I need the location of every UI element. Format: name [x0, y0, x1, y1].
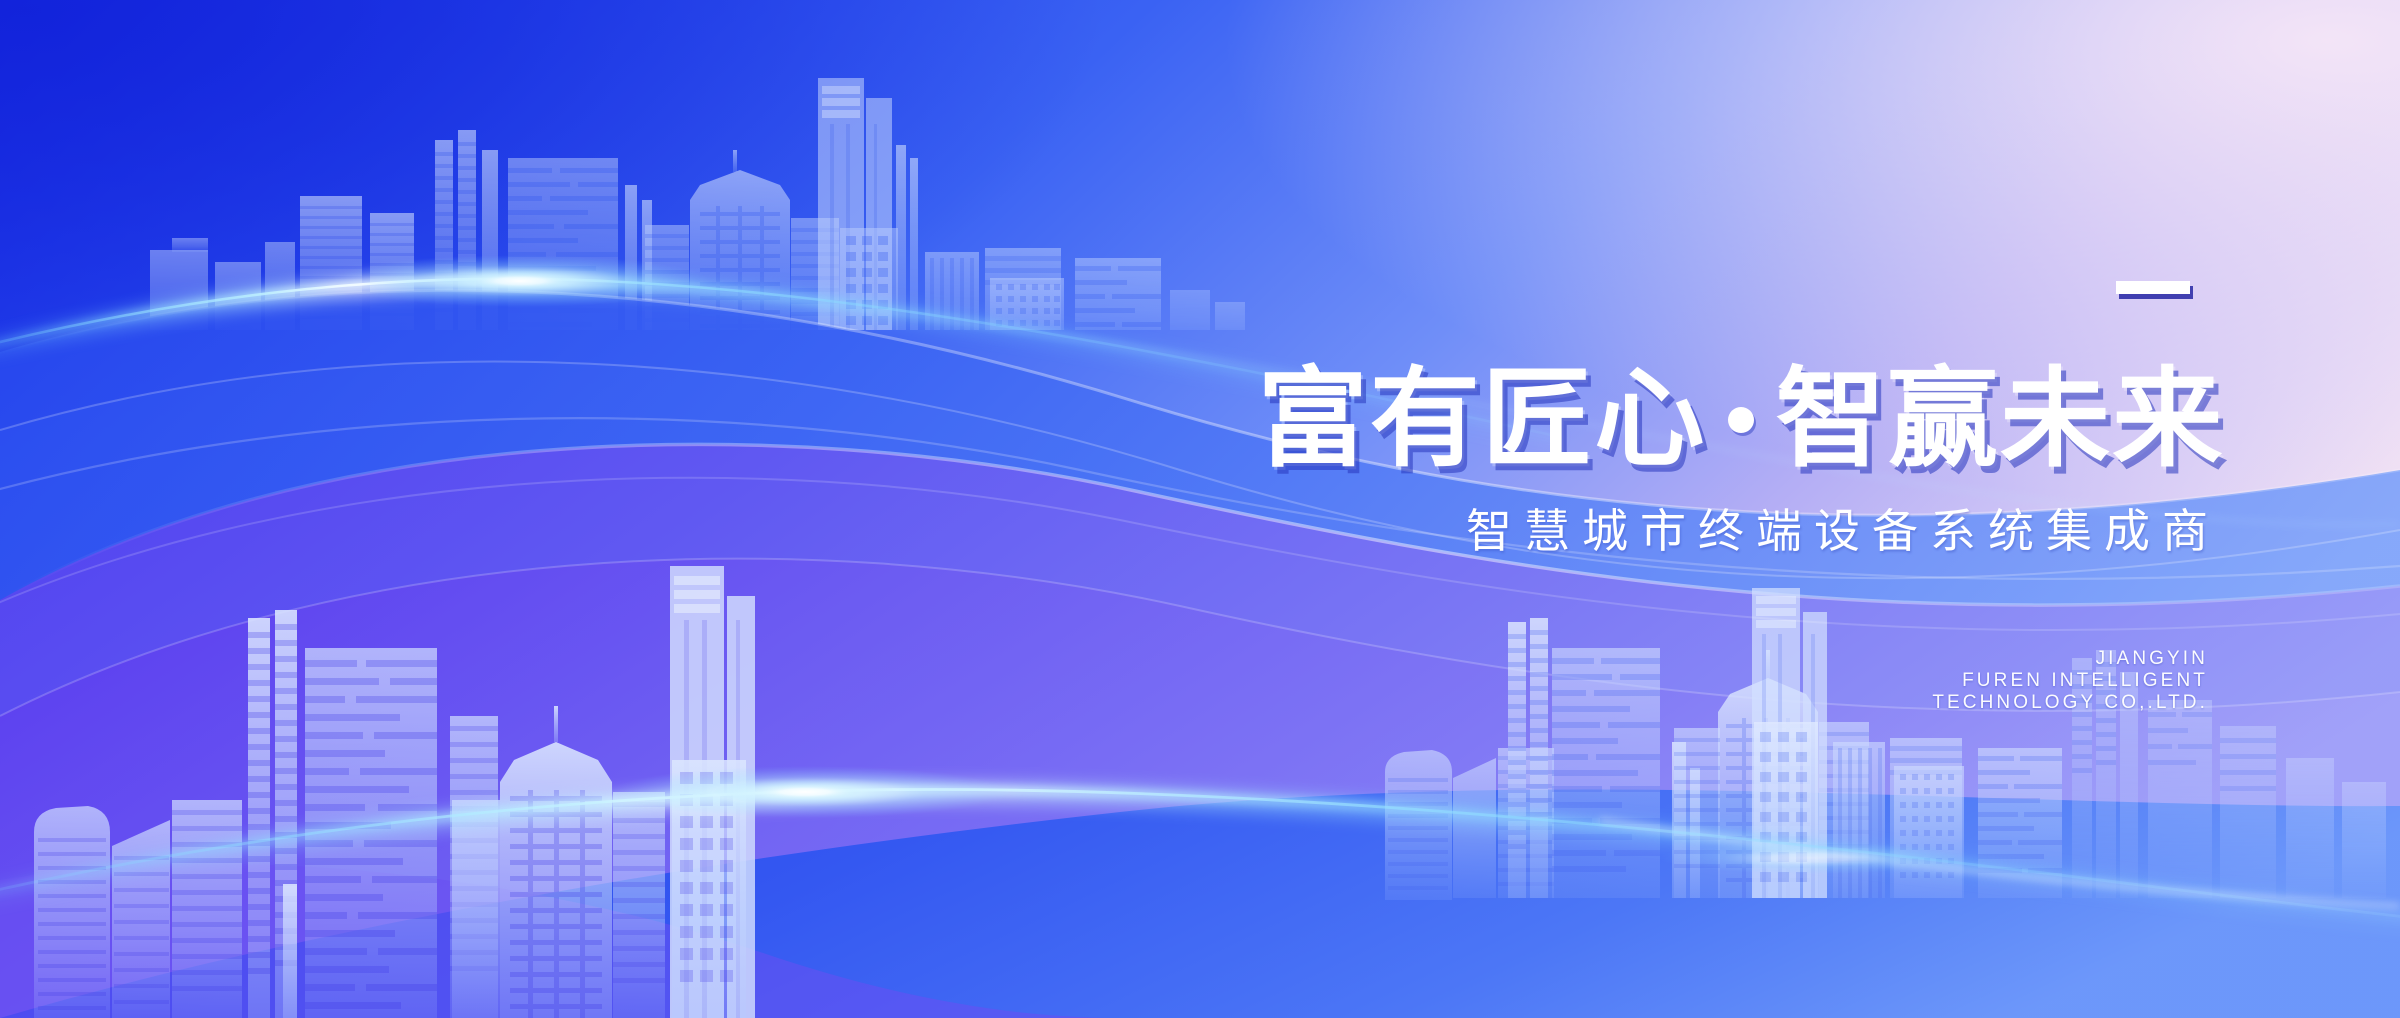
title-separator-dot: [1728, 407, 1754, 433]
accent-dash-icon: [2116, 281, 2190, 294]
company-name-english: JIANGYIN FUREN INTELLIGENT TECHNOLOGY CO…: [1700, 648, 2208, 714]
company-line-1: JIANGYIN: [1700, 648, 2208, 670]
company-line-2: FUREN INTELLIGENT: [1700, 670, 2208, 692]
main-title: 富有匠心 智赢未来: [1040, 355, 2220, 485]
main-title-right: 智赢未来: [1776, 366, 2225, 474]
subtitle: 智慧城市终端设备系统集成商: [1200, 505, 2220, 558]
banner-root: 富有匠心 智赢未来 智慧城市终端设备系统集成商 JIANGYIN FUREN I…: [0, 0, 2400, 1018]
company-line-3: TECHNOLOGY CO,.LTD.: [1700, 692, 2208, 714]
main-title-left: 富有匠心: [1258, 366, 1707, 474]
